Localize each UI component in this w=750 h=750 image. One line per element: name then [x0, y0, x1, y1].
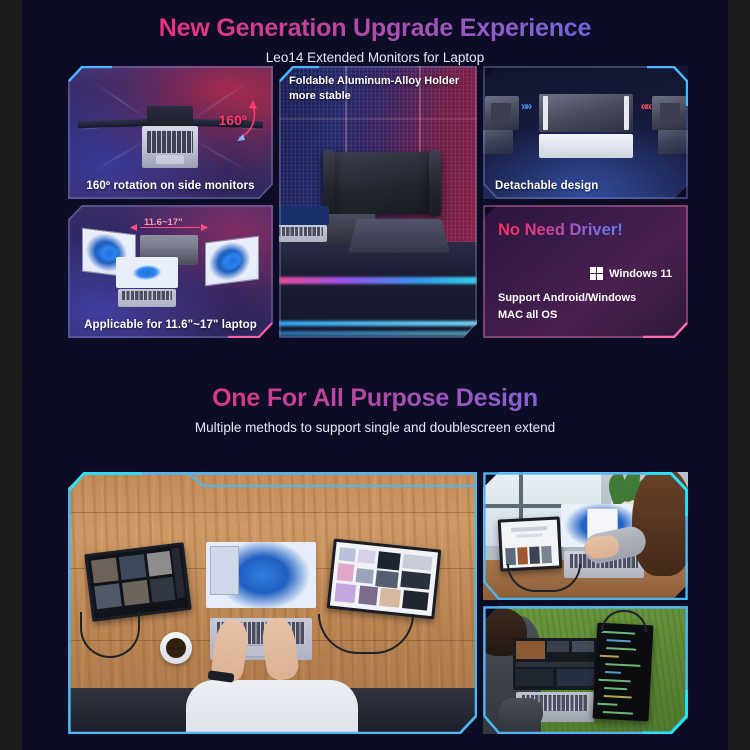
photo-triple-monitor-desk [68, 472, 477, 734]
panel-size-caption: Applicable for 11.6"~17" laptop [68, 312, 273, 338]
panel-holder-art: Foldable Aluminum-Alloy Holder more stab… [279, 66, 477, 338]
photo-single-art [483, 472, 688, 600]
section1-subtitle: Leo14 Extended Monitors for Laptop [22, 50, 728, 65]
section2-header: One For All Purpose Design Multiple meth… [22, 384, 728, 435]
photo-outdoor-code [483, 606, 688, 734]
panel-holder-caption: Foldable Aluminum-Alloy Holder more stab… [289, 74, 459, 104]
feature-panel-grid: 160º 160º rotation on side monitors [68, 66, 688, 338]
panel-size-art: 11.6~17" Applicable for 11.6"~17" laptop [68, 205, 273, 338]
photo-grid [68, 472, 688, 734]
panel-no-driver: No Need Driver! Windows 11 Support Andro… [483, 205, 688, 338]
panel-detachable-caption: Detachable design [483, 173, 688, 199]
panel-detachable-art: »» «« Detachable design [483, 66, 688, 199]
section1-header: New Generation Upgrade Experience Leo14 … [22, 14, 728, 65]
windows-badge: Windows 11 [590, 267, 672, 280]
windows-badge-label: Windows 11 [609, 268, 672, 280]
photo-outdoor-art [483, 606, 688, 734]
panel-rotation: 160º 160º rotation on side monitors [68, 66, 273, 199]
panel-detachable: »» «« Detachable design [483, 66, 688, 199]
panel-rotation-art: 160º 160º rotation on side monitors [68, 66, 273, 199]
panel-laptop-size: 11.6~17" Applicable for 11.6"~17" laptop [68, 205, 273, 338]
panel-rotation-caption: 160º rotation on side monitors [68, 173, 273, 199]
no-driver-headline: No Need Driver! [498, 221, 623, 240]
section1-title: New Generation Upgrade Experience [22, 14, 728, 43]
photo-single-extend [483, 472, 688, 600]
section2-title: One For All Purpose Design [22, 384, 728, 413]
detach-right-chevron: «« [641, 99, 650, 113]
holder-caption-line2: more stable [289, 89, 459, 104]
poster-canvas: New Generation Upgrade Experience Leo14 … [22, 0, 728, 750]
holder-caption-line1: Foldable Aluminum-Alloy Holder [289, 74, 459, 89]
windows-logo-icon [590, 267, 603, 280]
section-purpose-design: One For All Purpose Design Multiple meth… [22, 372, 728, 750]
section-upgrade-experience: New Generation Upgrade Experience Leo14 … [22, 0, 728, 368]
support-line2: MAC all OS [498, 307, 636, 324]
section2-subtitle: Multiple methods to support single and d… [22, 420, 728, 435]
photo-triple-art [68, 472, 477, 734]
panel-no-driver-art: No Need Driver! Windows 11 Support Andro… [483, 205, 688, 338]
support-line1: Support Android/Windows [498, 290, 636, 307]
support-os-text: Support Android/Windows MAC all OS [498, 290, 636, 324]
detach-left-chevron: »» [521, 99, 530, 113]
panel-holder: Foldable Aluminum-Alloy Holder more stab… [279, 66, 477, 338]
